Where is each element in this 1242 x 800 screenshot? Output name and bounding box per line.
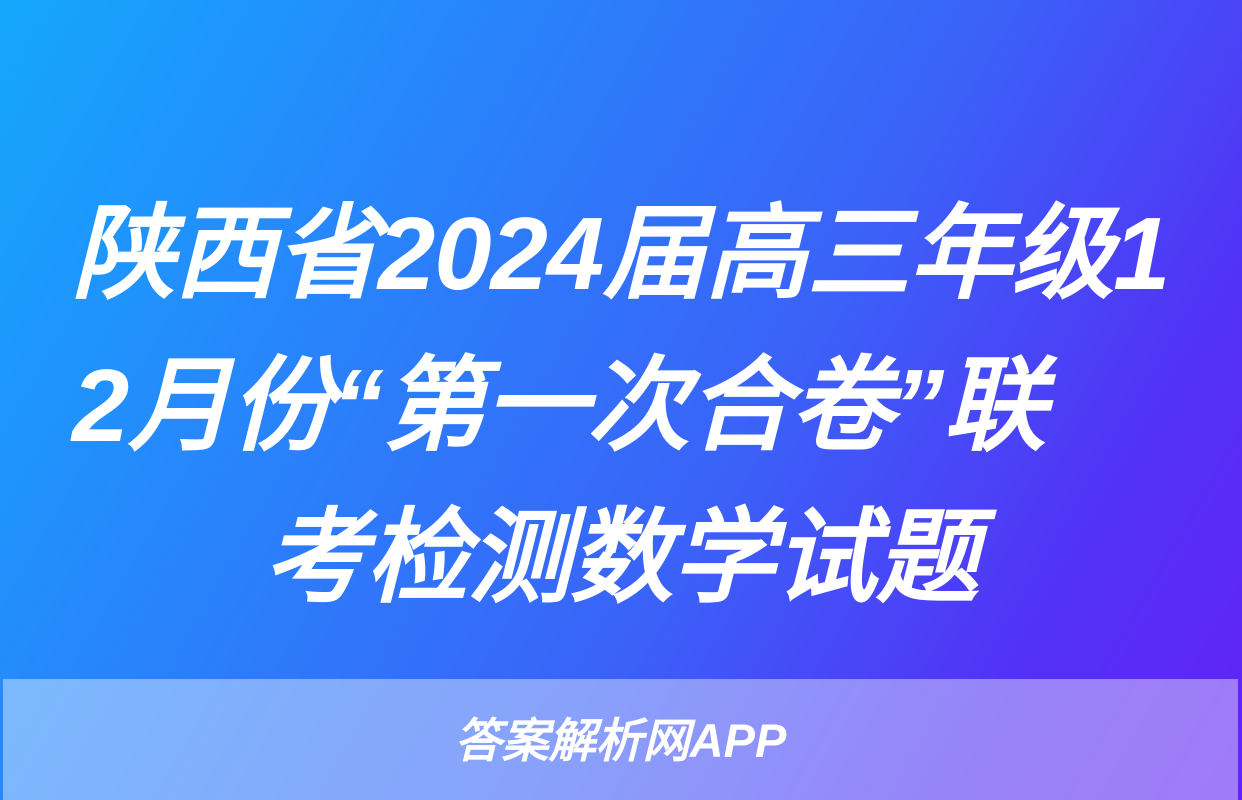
title-line-2: 2月份“第一次合卷”联 — [72, 330, 1170, 482]
watermark-band: 答案解析网APP — [3, 679, 1238, 800]
watermark-label: 答案解析网APP — [455, 717, 787, 764]
title-line-3: 考检测数学试题 — [72, 482, 1170, 634]
title-line-1: 陕西省2024届高三年级1 — [72, 178, 1170, 330]
page-title: 陕西省2024届高三年级1 2月份“第一次合卷”联 考检测数学试题 — [0, 178, 1242, 634]
exam-title-card: 陕西省2024届高三年级1 2月份“第一次合卷”联 考检测数学试题 答案解析网A… — [0, 0, 1242, 800]
